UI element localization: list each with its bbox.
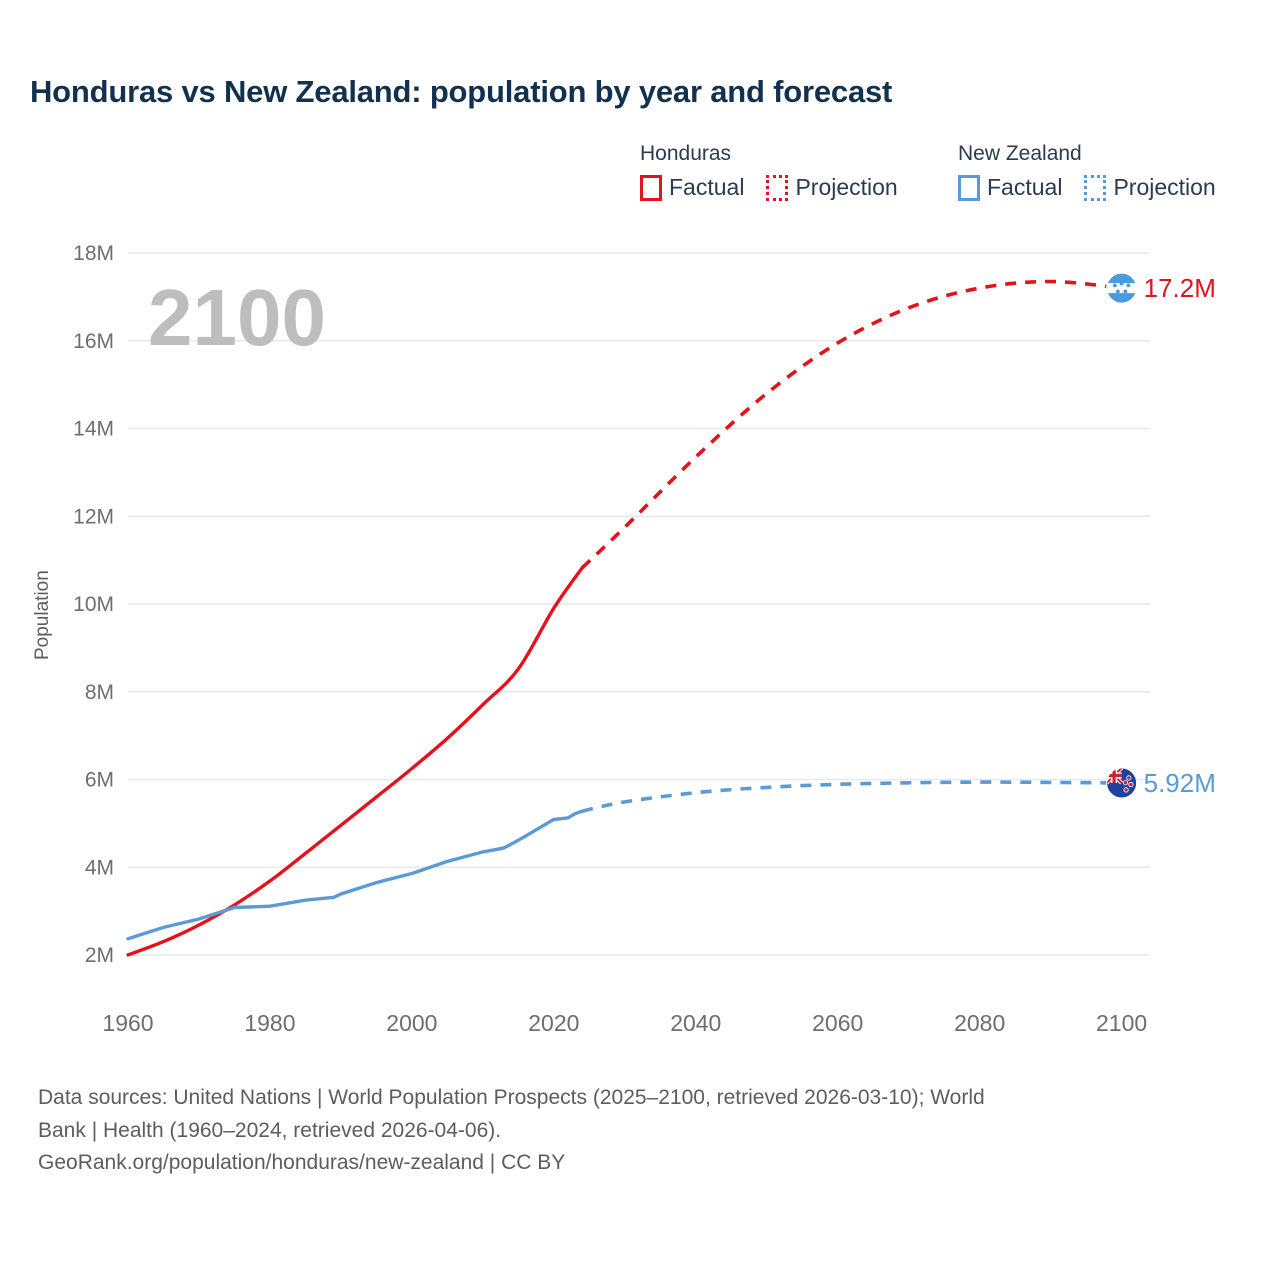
series-line-projection-new-zealand xyxy=(582,782,1121,811)
x-axis-tick-label: 2060 xyxy=(812,1010,863,1036)
chart-page: Honduras vs New Zealand: population by y… xyxy=(0,0,1280,1280)
honduras-flag-icon xyxy=(1107,273,1137,303)
y-axis-tick-label: 12M xyxy=(73,505,114,528)
y-axis-tick-label: 18M xyxy=(73,242,114,265)
end-value-label-honduras: 17.2M xyxy=(1144,273,1216,303)
x-axis-tick-label: 2080 xyxy=(954,1010,1005,1036)
data-series-group xyxy=(128,282,1122,955)
x-axis-tick-label: 1980 xyxy=(244,1010,295,1036)
chart-footer: Data sources: United Nations | World Pop… xyxy=(38,1082,1248,1180)
series-line-factual-new-zealand xyxy=(128,811,582,939)
y-axis-tick-label: 16M xyxy=(73,330,114,353)
x-axis-tick-label: 2000 xyxy=(386,1010,437,1036)
y-axis-tick-label: 4M xyxy=(85,856,114,879)
x-axis-tick-label: 2020 xyxy=(528,1010,579,1036)
end-markers-group: 17.2M5.92M xyxy=(1107,273,1216,798)
year-watermark: 2100 xyxy=(148,273,326,362)
y-axis-tick-label: 10M xyxy=(73,593,114,616)
y-axis-tick-label: 14M xyxy=(73,418,114,441)
x-axis-tick-label: 2100 xyxy=(1096,1010,1147,1036)
series-line-factual-honduras xyxy=(128,568,582,955)
y-axis-ticks: 2M4M6M8M10M12M14M16M18M xyxy=(73,242,114,967)
chart-svg: 2M4M6M8M10M12M14M16M18M 1960198020002020… xyxy=(0,0,1280,1060)
x-axis-tick-label: 2040 xyxy=(670,1010,721,1036)
x-axis-tick-label: 1960 xyxy=(102,1010,153,1036)
series-line-projection-honduras xyxy=(582,282,1121,568)
end-value-label-new-zealand: 5.92M xyxy=(1144,768,1216,798)
footer-line-1: Data sources: United Nations | World Pop… xyxy=(38,1082,1248,1115)
x-axis-ticks: 19601980200020202040206020802100 xyxy=(102,1010,1147,1036)
footer-line-2: Bank | Health (1960–2024, retrieved 2026… xyxy=(38,1115,1248,1148)
y-axis-tick-label: 2M xyxy=(85,944,114,967)
y-axis-tick-label: 6M xyxy=(85,769,114,792)
y-axis-tick-label: 8M xyxy=(85,681,114,704)
footer-line-3[interactable]: GeoRank.org/population/honduras/new-zeal… xyxy=(38,1147,1248,1180)
new-zealand-flag-icon xyxy=(1107,768,1137,798)
y-axis-label: Population xyxy=(32,570,53,660)
